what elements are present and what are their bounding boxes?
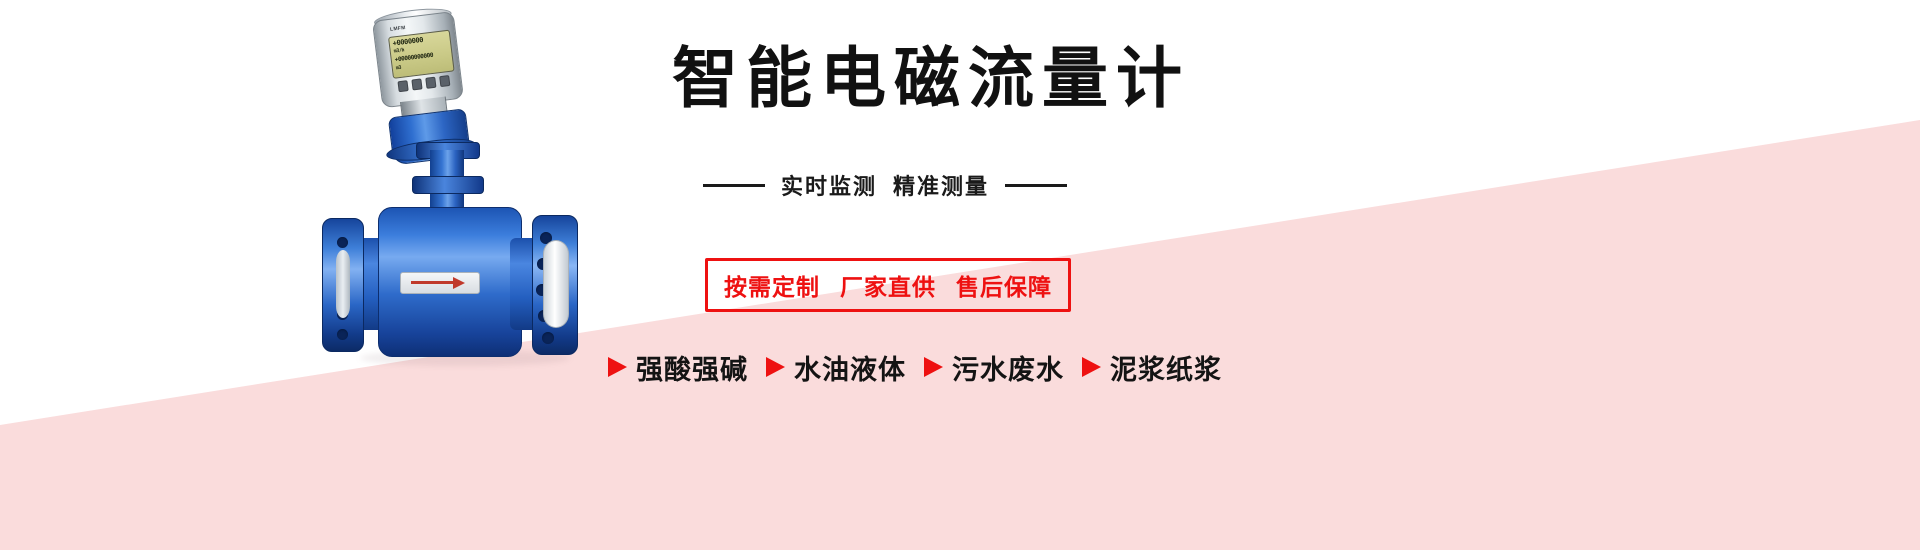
transmitter-brand-label: LMFM: [390, 25, 406, 33]
feature-label: 泥浆纸浆: [1110, 348, 1222, 387]
triangle-right-icon: [766, 357, 785, 377]
transmitter-button-3: [425, 77, 436, 89]
feature-item-1: 强酸强碱: [608, 348, 748, 387]
lcd-line-2: m3/h: [393, 47, 404, 54]
right-liner: [543, 240, 569, 328]
transmitter-button-2: [411, 78, 422, 90]
transmitter-button-4: [439, 75, 450, 87]
transmitter-button-1: [397, 80, 408, 92]
feature-item-3: 污水废水: [924, 348, 1064, 387]
transmitter-housing: LMFM +0000000 m3/h +00000000000 m3: [372, 11, 464, 108]
subtitle-text-right: 精准测量: [893, 169, 989, 201]
transmitter-lcd-display: +0000000 m3/h +00000000000 m3: [388, 30, 455, 79]
promo-item-2: 厂家直供: [840, 268, 936, 302]
feature-list: 强酸强碱 水油液体 污水废水 泥浆纸浆: [608, 345, 1240, 389]
subtitle-rule-right: [1005, 184, 1067, 187]
banner-title: 智能电磁流量计: [672, 44, 1190, 113]
lcd-line-1: +0000000: [392, 36, 423, 48]
promo-item-3: 售后保障: [956, 268, 1052, 302]
product-image-flowmeter: LMFM +0000000 m3/h +00000000000 m3: [300, 0, 720, 470]
feature-label: 水油液体: [794, 348, 906, 387]
subtitle-rule-left: [703, 184, 765, 187]
flange-bolt: [337, 329, 348, 340]
flange-bolt: [542, 332, 554, 344]
banner-subtitle: 实时监测 精准测量: [700, 168, 1070, 202]
promo-item-1: 按需定制: [724, 268, 820, 302]
neck-flange-lower: [412, 176, 484, 194]
triangle-right-icon: [924, 357, 943, 377]
flange-bolt: [337, 237, 348, 248]
triangle-right-icon: [608, 357, 627, 377]
promo-badge: 按需定制 厂家直供 售后保障: [705, 258, 1071, 312]
left-liner: [336, 250, 350, 318]
triangle-right-icon: [1082, 357, 1101, 377]
flow-direction-arrow-icon: [400, 272, 480, 294]
feature-item-4: 泥浆纸浆: [1082, 348, 1222, 387]
feature-item-2: 水油液体: [766, 348, 906, 387]
transmitter-buttons: [397, 75, 450, 91]
product-banner: LMFM +0000000 m3/h +00000000000 m3: [0, 0, 1920, 550]
feature-label: 污水废水: [952, 348, 1064, 387]
transmitter-head: LMFM +0000000 m3/h +00000000000 m3: [367, 1, 498, 149]
feature-label: 强酸强碱: [636, 348, 748, 387]
lcd-line-4: m3: [395, 65, 401, 72]
subtitle-text-left: 实时监测: [781, 169, 877, 201]
